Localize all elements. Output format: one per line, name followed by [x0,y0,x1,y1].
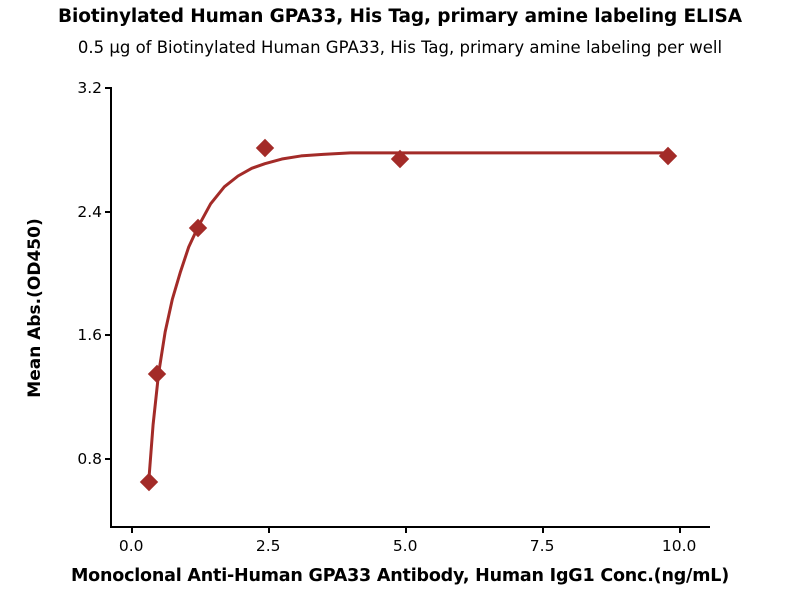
chart-title: Biotinylated Human GPA33, His Tag, prima… [0,6,800,27]
x-tick-label: 2.5 [256,537,281,555]
y-tick-label: 1.6 [77,326,102,344]
y-tick-label: 0.8 [77,450,102,468]
x-tick-label: 10.0 [662,537,697,555]
x-tick-mark [268,526,270,533]
x-tick-mark [131,526,133,533]
x-tick-label: 7.5 [530,537,555,555]
y-tick-label: 2.4 [77,203,102,221]
x-tick-mark [679,526,681,533]
x-tick-mark [542,526,544,533]
y-tick-mark [105,87,112,89]
y-axis-label: Mean Abs.(OD450) [22,88,48,528]
plot-area: 0.81.62.43.20.02.55.07.510.0 [110,88,710,528]
y-tick-mark [105,211,112,213]
chart-subtitle: 0.5 µg of Biotinylated Human GPA33, His … [0,38,800,57]
y-tick-label: 3.2 [77,79,102,97]
fit-curve [112,88,712,528]
x-tick-mark [405,526,407,533]
x-tick-label: 5.0 [393,537,418,555]
x-tick-label: 0.0 [119,537,144,555]
x-axis-label: Monoclonal Anti-Human GPA33 Antibody, Hu… [0,566,800,586]
y-tick-mark [105,458,112,460]
y-tick-mark [105,334,112,336]
chart-figure: Biotinylated Human GPA33, His Tag, prima… [0,0,800,600]
